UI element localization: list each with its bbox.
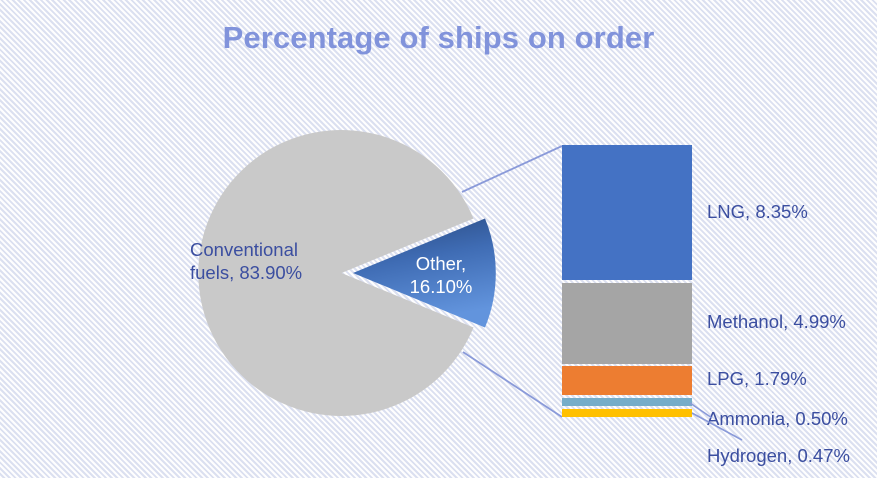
bar-segment-lpg[interactable] (562, 366, 692, 395)
stacked-bar-of-pie (562, 145, 692, 417)
leader-line-bottom (463, 352, 562, 417)
bar-segment-methanol[interactable] (562, 283, 692, 364)
pie-label-conventional-fuels: Conventional fuels, 83.90% (190, 238, 350, 284)
pie-label-other: Other, 16.10% (395, 252, 487, 298)
leader-line-top (462, 146, 562, 192)
bar-label-methanol: Methanol, 4.99% (707, 311, 846, 333)
bar-label-ammonia: Ammonia, 0.50% (707, 408, 848, 430)
bar-label-hydrogen: Hydrogen, 0.47% (707, 445, 850, 467)
bar-segment-hydrogen[interactable] (562, 409, 692, 417)
bar-label-lng: LNG, 8.35% (707, 201, 808, 223)
bar-label-lpg: LPG, 1.79% (707, 368, 807, 390)
bar-segment-lng[interactable] (562, 145, 692, 280)
bar-segment-ammonia[interactable] (562, 398, 692, 406)
chart-canvas: Percentage of ships on order Conventiona… (0, 0, 877, 478)
pie-and-leader-lines (0, 0, 877, 478)
